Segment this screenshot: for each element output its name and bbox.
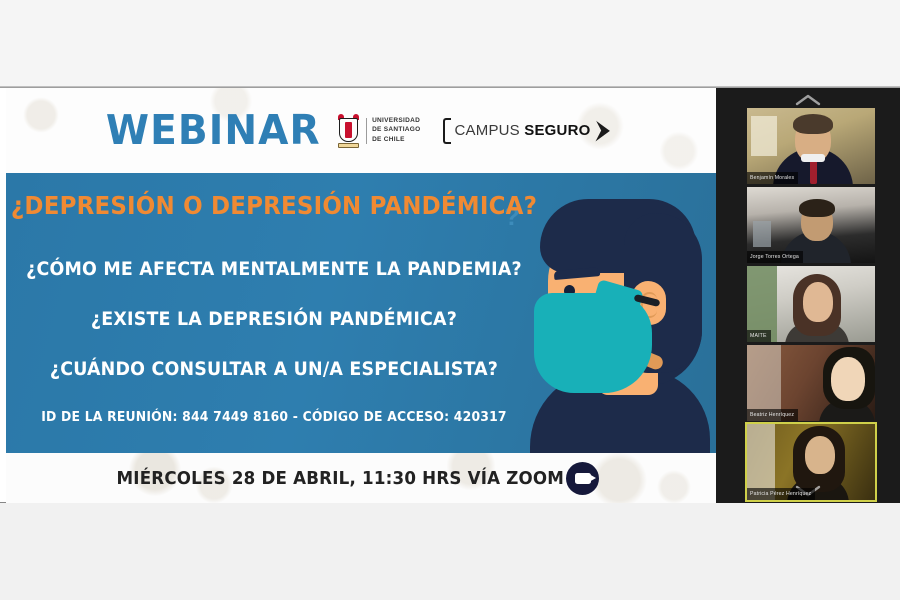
participant-name: Jorge Torres Ortega: [747, 251, 803, 263]
zoom-camera-icon: [566, 462, 599, 495]
usach-wordmark: UNIVERSIDAD DE SANTIAGO DE CHILE: [372, 117, 420, 143]
bracket-icon: [443, 118, 451, 144]
slide-question-1: ¿CÓMO ME AFECTA MENTALMENTE LA PANDEMIA?: [9, 258, 539, 280]
slide-question-2: ¿EXISTE LA DEPRESIÓN PANDÉMICA?: [9, 308, 539, 330]
slide-question-3: ¿CUÁNDO CONSULTAR A UN/A ESPECIALISTA?: [9, 358, 539, 380]
usach-line-1: UNIVERSIDAD: [372, 117, 420, 125]
campus-seguro-logo: CAMPUS SEGURO: [443, 118, 611, 144]
meeting-id-line: ID DE LA REUNIÓN: 844 7449 8160 - CÓDIGO…: [9, 409, 539, 425]
participant-tile[interactable]: Beatriz Henríquez: [747, 345, 875, 421]
campus-seguro-wordmark: CAMPUS SEGURO: [455, 122, 591, 139]
usach-line-3: DE CHILE: [372, 136, 420, 144]
webinar-title: WEBINAR: [105, 110, 320, 151]
participant-video-rail[interactable]: Benjamín Morales Jorge Torres Ortega: [716, 88, 900, 503]
participant-name: MAITE: [747, 330, 771, 342]
slide-headline: ¿DEPRESIÓN O DEPRESIÓN PANDÉMICA?: [9, 191, 539, 220]
usach-shield-icon: [336, 114, 361, 148]
chevron-up-icon[interactable]: [795, 94, 821, 106]
window-chrome-bottom: [0, 503, 900, 600]
participant-tile-active-speaker[interactable]: Patricia Pérez Henríquez: [747, 424, 875, 500]
shared-screen-slide[interactable]: WEBINAR UNIVERSIDAD DE SANTIAGO DE CHILE…: [6, 88, 716, 503]
participant-tile[interactable]: Jorge Torres Ortega: [747, 187, 875, 263]
seguro-word: SEGURO: [524, 122, 590, 139]
arrow-right-icon: [595, 120, 610, 142]
virus-decoration: [656, 128, 702, 173]
slide-body: ? ¿DEPRESIÓN O DEPRESIÓN PANDÉMICA? ¿CÓM…: [6, 173, 716, 453]
virus-decoration: [20, 94, 62, 136]
zoom-meeting-window: WEBINAR UNIVERSIDAD DE SANTIAGO DE CHILE…: [0, 0, 900, 600]
slide-header: WEBINAR UNIVERSIDAD DE SANTIAGO DE CHILE…: [6, 88, 716, 173]
usach-line-2: DE SANTIAGO: [372, 126, 420, 134]
event-datetime-text: MIÉRCOLES 28 DE ABRIL, 11:30 HRS VÍA ZOO…: [116, 468, 564, 489]
virus-decoration: [654, 467, 694, 503]
usach-logo: UNIVERSIDAD DE SANTIAGO DE CHILE: [336, 114, 420, 148]
participant-name: Beatriz Henríquez: [747, 409, 798, 421]
participant-tile[interactable]: Benjamín Morales: [747, 108, 875, 184]
campus-word: CAMPUS: [455, 122, 520, 139]
window-chrome-top: [0, 0, 900, 88]
logo-divider: [366, 118, 367, 144]
masked-person-illustration: [512, 173, 716, 453]
slide-footer: MIÉRCOLES 28 DE ABRIL, 11:30 HRS VÍA ZOO…: [6, 453, 716, 503]
participant-name: Benjamín Morales: [747, 172, 798, 184]
participant-tile[interactable]: MAITE: [747, 266, 875, 342]
participant-name: Patricia Pérez Henríquez: [747, 488, 815, 500]
